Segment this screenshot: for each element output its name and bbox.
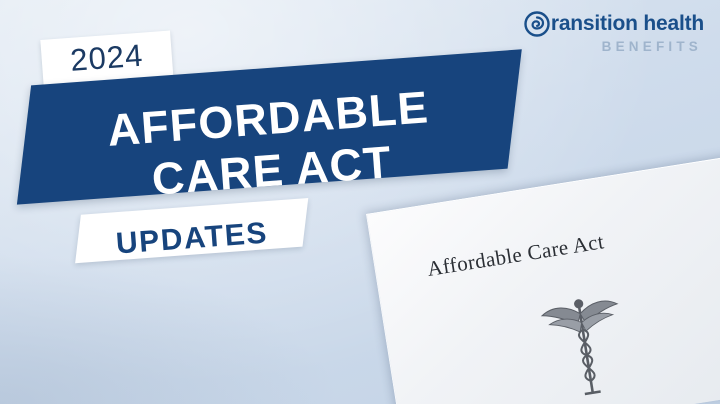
brand-name: ransition health [551, 11, 704, 37]
subtitle-band [75, 198, 308, 263]
document-photo: Affordable Care Act [366, 156, 720, 404]
circle-swirl-icon [524, 11, 550, 37]
background-corner-shade [0, 254, 340, 404]
promo-graphic: Affordable Care Act [0, 0, 720, 404]
brand-tagline: BENEFITS [479, 39, 704, 54]
caduceus-icon [531, 283, 639, 404]
brand-logo-row: ransition health [479, 10, 704, 38]
brand-logo[interactable]: ransition health BENEFITS [479, 10, 704, 64]
